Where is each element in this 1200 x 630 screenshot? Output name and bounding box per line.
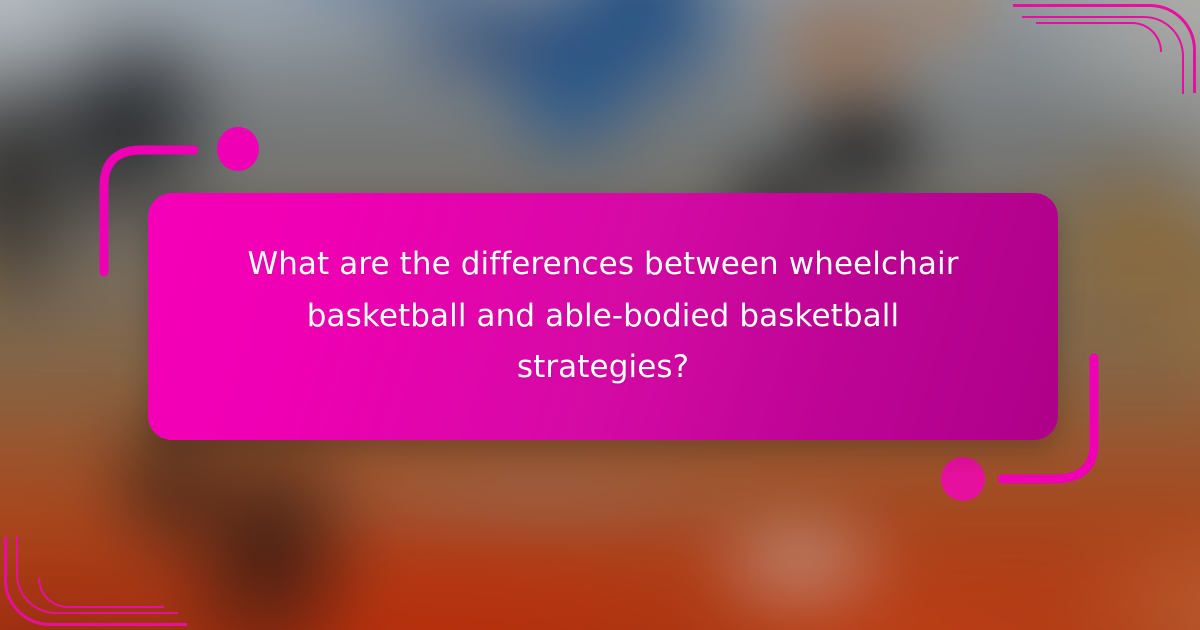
- question-card: What are the differences between wheelch…: [148, 193, 1058, 440]
- question-text: What are the differences between wheelch…: [238, 239, 968, 393]
- quote-card-banner: What are the differences between wheelch…: [0, 0, 1200, 630]
